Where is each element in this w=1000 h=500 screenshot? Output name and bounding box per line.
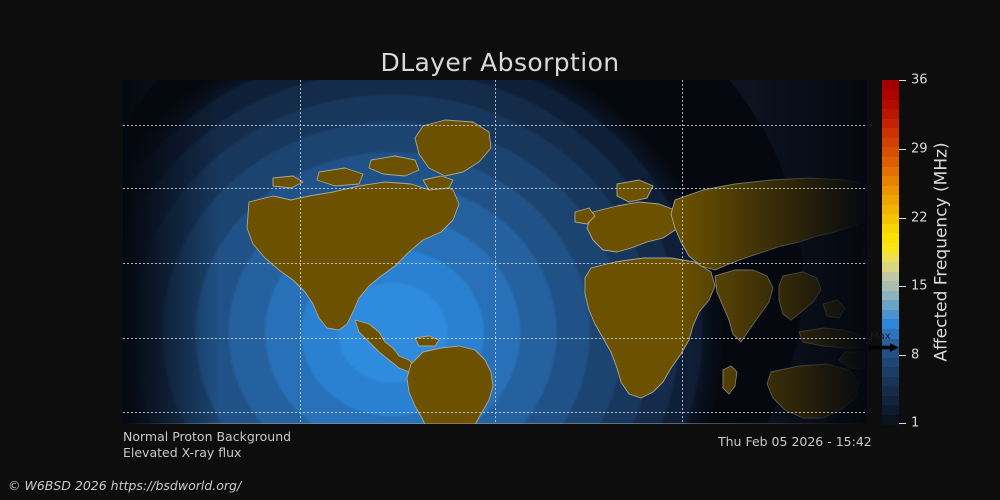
terminator-shadow-left: [123, 80, 219, 424]
status-line-2: Elevated X-ray flux: [123, 445, 291, 461]
colorbar-band-26: [882, 166, 899, 176]
dlayer-absorption-page: DLayer Absorption: [0, 0, 1000, 500]
colorbar-band-32: [882, 109, 899, 119]
colorbar-band-22: [882, 204, 899, 214]
colorbar-band-0: [882, 414, 899, 424]
colorbar-band-13: [882, 290, 899, 300]
colorbar-band-29: [882, 137, 899, 147]
status-text: Normal Proton Background Elevated X-ray …: [123, 429, 291, 461]
colorbar-band-14: [882, 281, 899, 291]
colorbar-tick-label-8: 8: [911, 348, 919, 363]
colorbar-band-2: [882, 395, 899, 405]
colorbar-band-12: [882, 300, 899, 310]
arrow-right-icon: [868, 343, 899, 352]
colorbar-tick-15: [899, 286, 906, 287]
colorbar-band-23: [882, 195, 899, 205]
colorbar-band-11: [882, 309, 899, 319]
colorbar-band-27: [882, 156, 899, 166]
colorbar-band-35: [882, 80, 899, 90]
colorbar-band-24: [882, 185, 899, 195]
colorbar-band-16: [882, 262, 899, 272]
colorbar-band-10: [882, 319, 899, 329]
colorbar-tick-label-29: 29: [911, 141, 928, 156]
colorbar-band-18: [882, 242, 899, 252]
colorbar-tick-label-15: 15: [911, 279, 928, 294]
colorbar-band-17: [882, 252, 899, 262]
colorbar-band-4: [882, 376, 899, 386]
timestamp: Thu Feb 05 2026 - 15:42: [718, 434, 872, 449]
colorbar[interactable]: [882, 80, 899, 424]
colorbar-band-21: [882, 214, 899, 224]
colorbar-tick-1: [899, 423, 906, 424]
colorbar-tick-29: [899, 149, 906, 150]
colorbar-tick-22: [899, 218, 906, 219]
colorbar-band-1: [882, 405, 899, 415]
copyright-notice: © W6BSD 2026 https://bsdworld.org/: [8, 478, 241, 493]
map-plot-area[interactable]: [123, 80, 867, 424]
page-title: DLayer Absorption: [0, 48, 1000, 77]
colorbar-band-5: [882, 367, 899, 377]
absorption-field: [123, 80, 867, 424]
colorbar-band-28: [882, 147, 899, 157]
colorbar-tick-36: [899, 80, 906, 81]
colorbar-band-31: [882, 118, 899, 128]
colorbar-band-33: [882, 99, 899, 109]
map-canvas: [123, 80, 867, 424]
colorbar-max-label: Max: [870, 331, 891, 342]
terminator-shadow-right: [679, 80, 867, 424]
colorbar-band-25: [882, 176, 899, 186]
colorbar-band-3: [882, 386, 899, 396]
colorbar-band-20: [882, 223, 899, 233]
status-line-1: Normal Proton Background: [123, 429, 291, 445]
colorbar-tick-label-22: 22: [911, 210, 928, 225]
colorbar-tick-label-1: 1: [911, 416, 919, 431]
colorbar-axis-label: Affected Frequency (MHz): [930, 80, 954, 424]
colorbar-band-30: [882, 128, 899, 138]
colorbar-tick-8: [899, 355, 906, 356]
colorbar-max-marker: Max: [868, 331, 902, 355]
colorbar-tick-label-36: 36: [911, 73, 928, 88]
colorbar-band-6: [882, 357, 899, 367]
colorbar-band-19: [882, 233, 899, 243]
colorbar-band-15: [882, 271, 899, 281]
colorbar-axis-label-text: Affected Frequency (MHz): [932, 142, 952, 361]
colorbar-band-34: [882, 90, 899, 100]
